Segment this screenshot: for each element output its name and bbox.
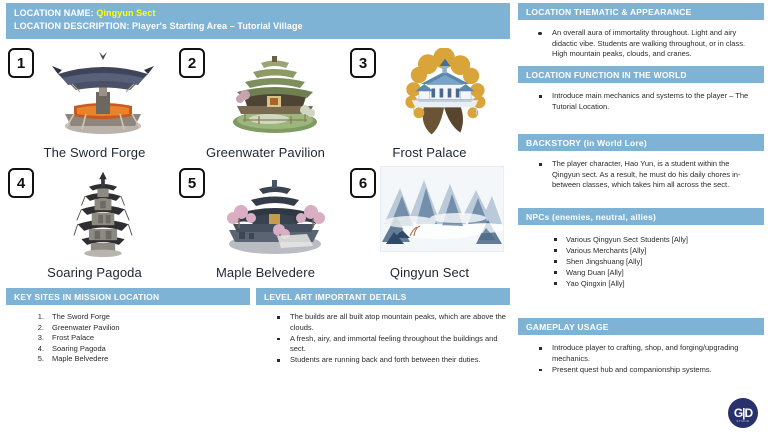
level-art-section: LEVEL ART IMPORTANT DETAILS The builds a… xyxy=(256,288,510,366)
list-item: The builds are all built atop mountain p… xyxy=(274,312,506,333)
key-site-text: Greenwater Pavilion xyxy=(52,323,120,332)
thematic-list: An overall aura of immortality throughou… xyxy=(536,28,758,60)
site-card-1[interactable]: 1 xyxy=(2,44,173,164)
thematic-title: LOCATION THEMATIC & APPEARANCE xyxy=(518,3,764,20)
site-thumbnail-grid: 1 xyxy=(0,44,514,284)
site-caption-3: Frost Palace xyxy=(344,145,515,160)
backstory-title: BACKSTORY (in World Lore) xyxy=(518,134,764,151)
function-title: LOCATION FUNCTION IN THE WORLD xyxy=(518,66,764,83)
key-site-number: 1. xyxy=(28,312,44,323)
level-art-body: The builds are all built atop mountain p… xyxy=(256,305,510,366)
key-site-number: 4. xyxy=(28,344,44,355)
list-item: Yao Qingxin [Ally] xyxy=(552,278,758,289)
backstory-section: BACKSTORY (in World Lore) The player cha… xyxy=(518,134,764,193)
npcs-list: Various Qingyun Sect Students [Ally] Var… xyxy=(552,234,758,289)
site-number-badge-4: 4 xyxy=(8,168,34,198)
key-sites-body: 1.The Sword Forge 2.Greenwater Pavilion … xyxy=(6,305,250,365)
key-site-number: 5. xyxy=(28,354,44,365)
site-number-badge-3: 3 xyxy=(350,48,376,78)
list-item: Introduce main mechanics and systems to … xyxy=(536,91,758,112)
function-section: LOCATION FUNCTION IN THE WORLD Introduce… xyxy=(518,66,764,115)
gameplay-section: GAMEPLAY USAGE Introduce player to craft… xyxy=(518,318,764,378)
site-image-maple-belvedere xyxy=(209,166,339,258)
site-card-4[interactable]: 4 xyxy=(2,164,173,284)
site-card-2[interactable]: 2 xyxy=(173,44,344,164)
level-art-list: The builds are all built atop mountain p… xyxy=(274,312,506,366)
site-number-badge-2: 2 xyxy=(179,48,205,78)
key-sites-title: KEY SITES IN MISSION LOCATION xyxy=(6,288,250,305)
list-item: Introduce player to crafting, shop, and … xyxy=(536,343,758,364)
level-art-title: LEVEL ART IMPORTANT DETAILS xyxy=(256,288,510,305)
list-item: The player character, Hao Yun, is a stud… xyxy=(536,159,758,191)
logo-monogram: G|D xyxy=(734,406,752,420)
site-number-badge-1: 1 xyxy=(8,48,34,78)
site-image-greenwater-pavilion xyxy=(209,46,339,138)
key-site-text: Frost Palace xyxy=(52,333,94,342)
thematic-section: LOCATION THEMATIC & APPEARANCE An overal… xyxy=(518,3,764,62)
ink-mountains-icon xyxy=(380,166,504,252)
site-caption-2: Greenwater Pavilion xyxy=(173,145,344,160)
list-item: Present quest hub and companionship syst… xyxy=(536,365,758,376)
greenwater-pavilion-icon xyxy=(215,48,333,138)
site-image-sword-forge xyxy=(38,46,168,138)
site-image-soaring-pagoda xyxy=(38,166,168,258)
location-description-value: Player's Starting Area – Tutorial Villag… xyxy=(132,21,303,31)
location-name-value: Qingyun Sect xyxy=(96,8,155,18)
gameplay-list: Introduce player to crafting, shop, and … xyxy=(536,343,758,375)
function-list: Introduce main mechanics and systems to … xyxy=(536,91,758,112)
key-sites-section: KEY SITES IN MISSION LOCATION 1.The Swor… xyxy=(6,288,250,365)
list-item: 2.Greenwater Pavilion xyxy=(28,323,246,334)
key-site-text: Soaring Pagoda xyxy=(52,344,106,353)
sword-forge-icon xyxy=(44,48,162,138)
list-item: A fresh, airy, and immortal feeling thro… xyxy=(274,334,506,355)
site-card-5[interactable]: 5 xyxy=(173,164,344,284)
list-item: Students are running back and forth betw… xyxy=(274,355,506,366)
maple-belvedere-icon xyxy=(215,168,333,258)
key-site-number: 3. xyxy=(28,333,44,344)
list-item: 1.The Sword Forge xyxy=(28,312,246,323)
soaring-pagoda-icon xyxy=(44,168,162,258)
list-item: Various Qingyun Sect Students [Ally] xyxy=(552,234,758,245)
site-number-badge-5: 5 xyxy=(179,168,205,198)
backstory-list: The player character, Hao Yun, is a stud… xyxy=(536,159,758,191)
site-image-frost-palace xyxy=(380,46,510,138)
site-caption-5: Maple Belvedere xyxy=(173,265,344,280)
key-sites-list: 1.The Sword Forge 2.Greenwater Pavilion … xyxy=(28,312,246,365)
location-header-banner: LOCATION NAME: Qingyun Sect LOCATION DES… xyxy=(6,3,510,39)
function-body: Introduce main mechanics and systems to … xyxy=(518,83,764,115)
list-item: 3.Frost Palace xyxy=(28,333,246,344)
npcs-title: NPCs (enemies, neutral, allies) xyxy=(518,208,764,225)
location-description-line: LOCATION DESCRIPTION: Player's Starting … xyxy=(14,20,510,33)
studio-logo: G|D STUDIO xyxy=(728,398,758,428)
site-number-badge-6: 6 xyxy=(350,168,376,198)
list-item: 5.Maple Belvedere xyxy=(28,354,246,365)
backstory-body: The player character, Hao Yun, is a stud… xyxy=(518,151,764,193)
site-caption-1: The Sword Forge xyxy=(2,145,173,160)
npcs-body: Various Qingyun Sect Students [Ally] Var… xyxy=(518,225,764,291)
frost-palace-icon xyxy=(386,48,504,138)
site-caption-4: Soaring Pagoda xyxy=(2,265,173,280)
site-caption-6: Qingyun Sect xyxy=(344,265,515,280)
list-item: Wang Duan [Ally] xyxy=(552,267,758,278)
list-item: 4.Soaring Pagoda xyxy=(28,344,246,355)
site-card-3[interactable]: 3 xyxy=(344,44,515,164)
key-site-text: The Sword Forge xyxy=(52,312,110,321)
key-site-text: Maple Belvedere xyxy=(52,354,108,363)
gameplay-title: GAMEPLAY USAGE xyxy=(518,318,764,335)
gameplay-body: Introduce player to crafting, shop, and … xyxy=(518,335,764,378)
npcs-section: NPCs (enemies, neutral, allies) Various … xyxy=(518,208,764,291)
location-description-label: LOCATION DESCRIPTION: xyxy=(14,21,129,31)
location-name-line: LOCATION NAME: Qingyun Sect xyxy=(14,7,510,20)
slide-canvas: LOCATION NAME: Qingyun Sect LOCATION DES… xyxy=(0,0,768,432)
list-item: An overall aura of immortality throughou… xyxy=(536,28,758,60)
thematic-body: An overall aura of immortality throughou… xyxy=(518,20,764,62)
key-site-number: 2. xyxy=(28,323,44,334)
site-card-6[interactable]: 6 xyxy=(344,164,515,284)
site-image-ink-mountains xyxy=(378,166,506,258)
list-item: Various Merchants [Ally] xyxy=(552,245,758,256)
logo-subtext: STUDIO xyxy=(736,419,749,423)
location-name-label: LOCATION NAME: xyxy=(14,8,94,18)
list-item: Shen Jingshuang [Ally] xyxy=(552,256,758,267)
